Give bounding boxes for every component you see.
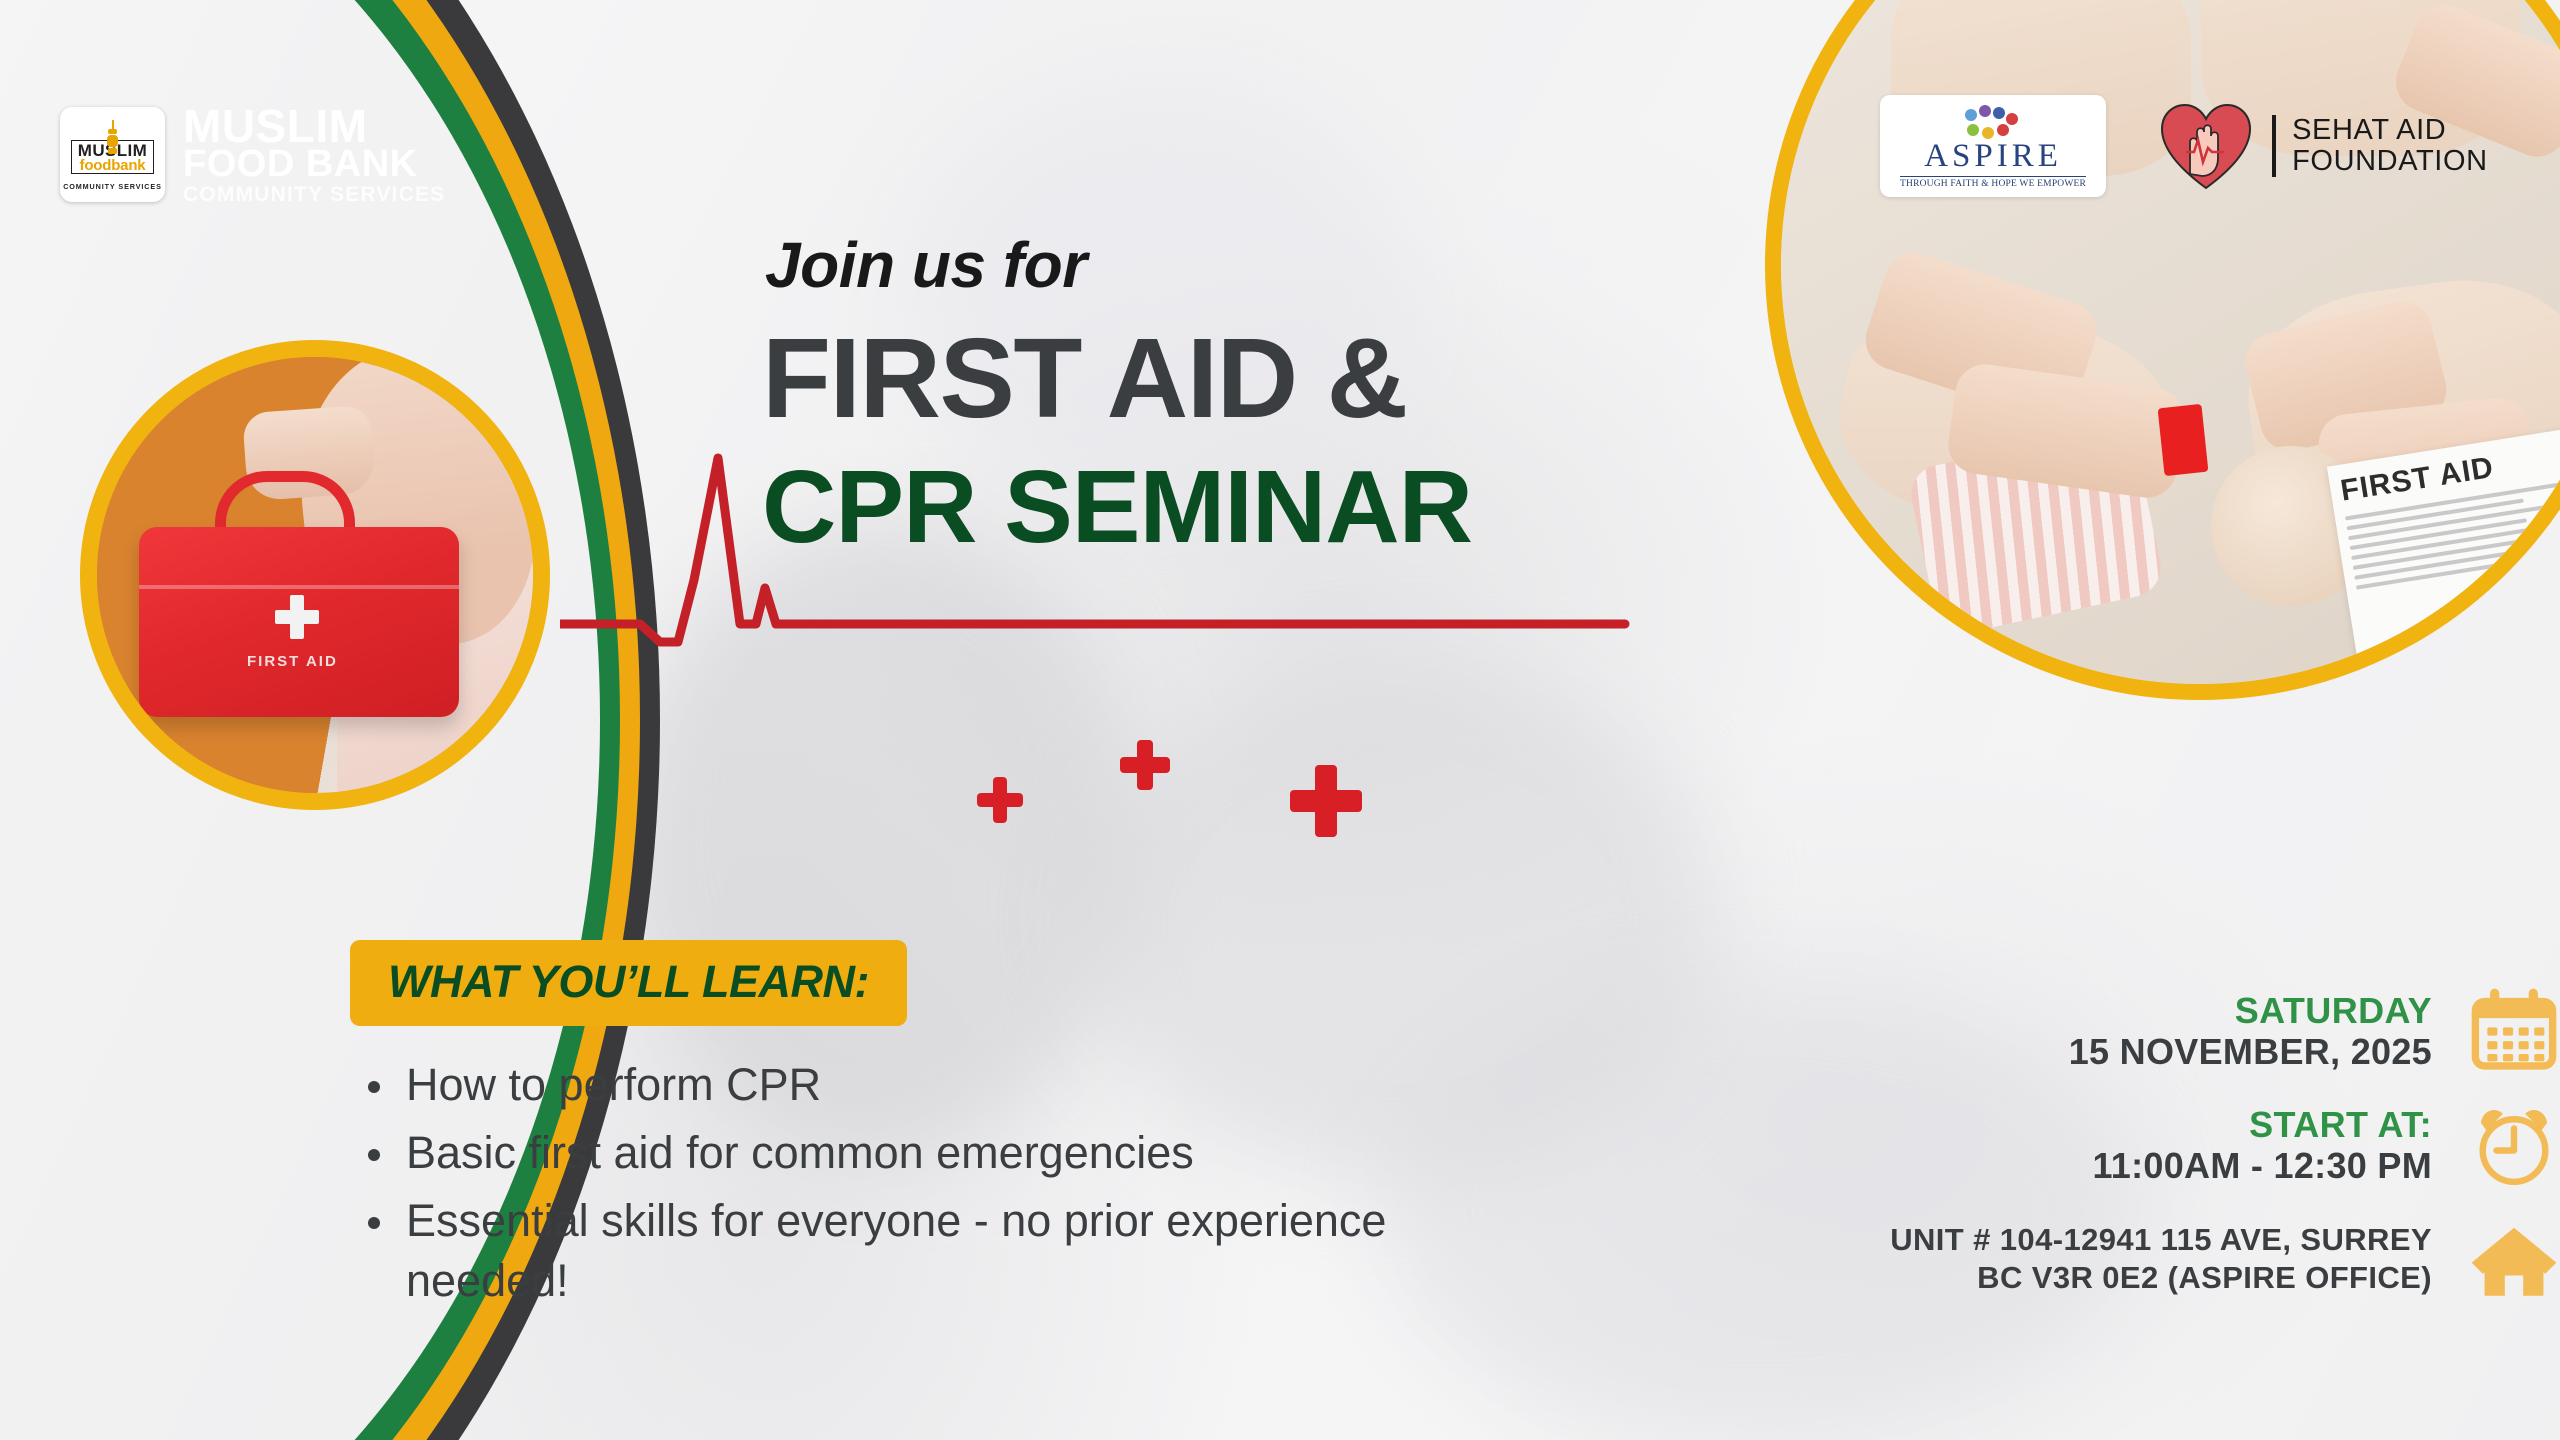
learning-points-list: How to perform CPR Basic first aid for c… — [358, 1055, 1418, 1318]
aspire-tagline: THROUGH FAITH & HOPE WE EMPOWER — [1900, 176, 2086, 189]
event-date-value: 15 NOVEMBER, 2025 — [2069, 1031, 2432, 1072]
event-date-text: SATURDAY 15 NOVEMBER, 2025 — [2069, 990, 2432, 1072]
aspire-wordmark: ASPIRE — [1900, 140, 2086, 173]
first-aid-kit-label: FIRST AID — [247, 653, 338, 670]
event-address-line1: UNIT # 104-12941 115 AVE, SURREY — [1890, 1221, 2432, 1259]
event-time-value: 11:00AM - 12:30 PM — [2092, 1145, 2432, 1186]
alarm-clock-icon — [2468, 1099, 2560, 1191]
sehat-wordmark: SEHAT AID FOUNDATION — [2272, 115, 2488, 178]
aspire-people-icon — [1963, 105, 2023, 139]
muslim-food-bank-logo: MUSLIM foodbank COMMUNITY SERVICES MUSLI… — [60, 105, 445, 205]
event-location-text: UNIT # 104-12941 115 AVE, SURREY BC V3R … — [1890, 1221, 2432, 1297]
org-name-line2: FOOD BANK — [183, 147, 445, 182]
red-cross-icon — [977, 777, 1023, 823]
red-cross-icon — [1120, 740, 1170, 790]
red-cross-icon — [1290, 765, 1362, 837]
event-time-row: START AT: 11:00AM - 12:30 PM — [1640, 1099, 2560, 1191]
event-address-line2: BC V3R 0E2 (ASPIRE OFFICE) — [1890, 1259, 2432, 1297]
org-name-line3: COMMUNITY SERVICES — [183, 185, 445, 204]
first-aid-instruction-sheet: FIRST AID — [2327, 428, 2560, 665]
mfb-logo-subtitle: COMMUNITY SERVICES — [63, 182, 162, 191]
ecg-heartbeat-icon — [560, 428, 1630, 673]
calendar-icon — [2468, 985, 2560, 1077]
mfb-logo-mark: MUSLIM foodbank COMMUNITY SERVICES — [60, 107, 165, 202]
sehat-name-line1: SEHAT AID — [2292, 114, 2446, 146]
heart-hands-icon — [2156, 96, 2256, 196]
house-icon — [2468, 1213, 2560, 1305]
org-name-text: MUSLIM FOOD BANK COMMUNITY SERVICES — [183, 105, 445, 205]
medical-cross-icon — [275, 595, 319, 639]
event-date-row: SATURDAY 15 NOVEMBER, 2025 — [1640, 985, 2560, 1077]
list-item: How to perform CPR — [358, 1055, 1418, 1115]
minaret-icon — [109, 120, 117, 166]
headline-eyebrow: Join us for — [765, 228, 1087, 302]
aspire-logo: ASPIRE THROUGH FAITH & HOPE WE EMPOWER — [1880, 95, 2106, 197]
list-item: Essential skills for everyone - no prior… — [358, 1191, 1418, 1311]
partner-logos: ASPIRE THROUGH FAITH & HOPE WE EMPOWER S… — [1880, 95, 2488, 197]
event-details: SATURDAY 15 NOVEMBER, 2025 — [1640, 985, 2560, 1305]
what-you-will-learn-badge: WHAT YOU’LL LEARN: — [350, 940, 907, 1026]
event-location-row: UNIT # 104-12941 115 AVE, SURREY BC V3R … — [1640, 1213, 2560, 1305]
headline-line1: FIRST AID & — [762, 322, 1407, 435]
org-name-line1: MUSLIM — [183, 105, 445, 147]
sehat-aid-foundation-logo: SEHAT AID FOUNDATION — [2156, 96, 2488, 196]
list-item: Basic first aid for common emergencies — [358, 1123, 1418, 1183]
first-aid-kit-photo: FIRST AID — [80, 340, 550, 810]
event-time-text: START AT: 11:00AM - 12:30 PM — [2092, 1104, 2432, 1186]
event-start-label: START AT: — [2092, 1104, 2432, 1145]
sehat-name-line2: FOUNDATION — [2292, 145, 2488, 177]
poster-canvas: MUSLIM foodbank COMMUNITY SERVICES MUSLI… — [0, 0, 2560, 1440]
event-day-label: SATURDAY — [2069, 990, 2432, 1031]
